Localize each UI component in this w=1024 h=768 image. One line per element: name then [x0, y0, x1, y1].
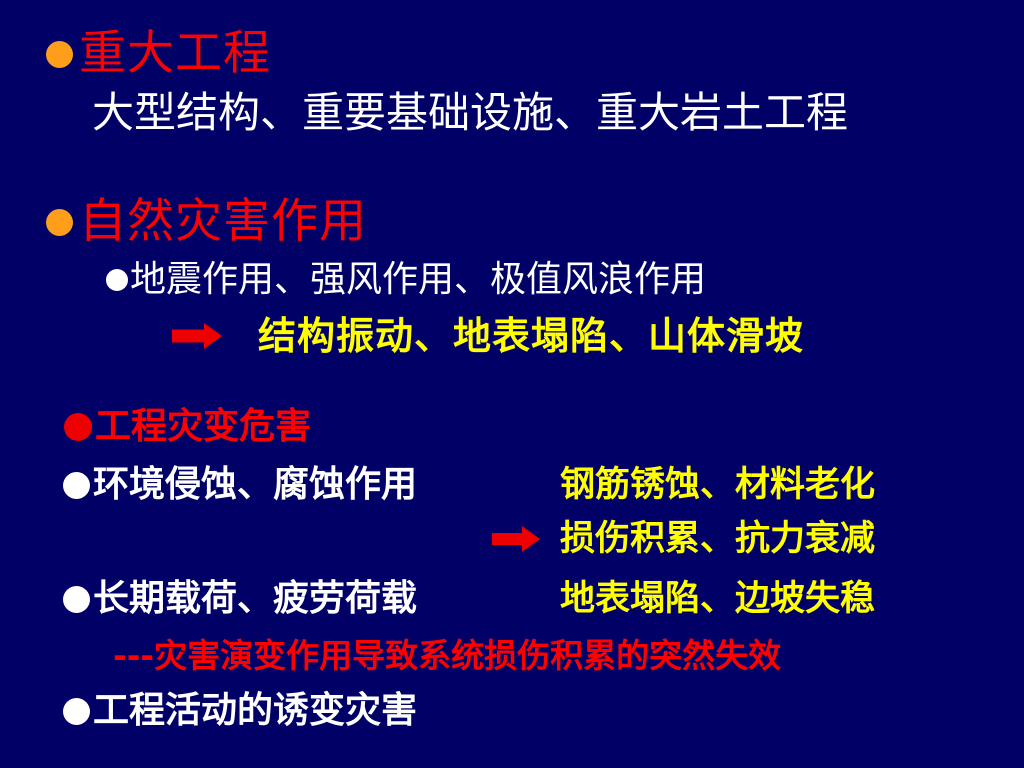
arrow-item-corrosion-result-line-2: 损伤积累、抗力衰减 — [492, 518, 875, 560]
text-longterm-load-result: 地表塌陷、边坡失稳 — [560, 578, 875, 620]
detail-major-projects: 大型结构、重要基础设施、重大岩土工程 — [92, 88, 848, 138]
text-conclusion: ---灾害演变作用导致系统损伤积累的突然失效 — [113, 636, 781, 676]
right-arrow-icon — [492, 527, 540, 551]
bullet-item-engineering-disaster: 工程灾变危害 — [64, 406, 311, 448]
text-hazard-effects: 结构振动、地表塌陷、山体滑坡 — [258, 313, 804, 359]
white-bullet-icon — [106, 269, 128, 291]
text-corrosion-result-2: 损伤积累、抗力衰减 — [560, 518, 875, 560]
slide-canvas: 重大工程 大型结构、重要基础设施、重大岩土工程 自然灾害作用 地震作用、强风作用… — [0, 0, 1024, 768]
orange-bullet-icon — [46, 209, 73, 236]
white-bullet-icon — [63, 586, 90, 613]
text-hazard-types: 地震作用、强风作用、极值风浪作用 — [130, 258, 706, 302]
item-conclusion: ---灾害演变作用导致系统损伤积累的突然失效 — [113, 636, 781, 676]
text-longterm-load-cause: 长期载荷、疲劳荷载 — [93, 578, 417, 620]
heading-engineering-disaster: 工程灾变危害 — [95, 406, 311, 448]
orange-bullet-icon — [46, 41, 73, 68]
bullet-item-hazard-types: 地震作用、强风作用、极值风浪作用 — [106, 258, 706, 302]
arrow-item-hazard-effects: 结构振动、地表塌陷、山体滑坡 — [172, 313, 804, 359]
text-major-projects-detail: 大型结构、重要基础设施、重大岩土工程 — [92, 88, 848, 138]
bullet-item-corrosion-cause: 环境侵蚀、腐蚀作用 — [63, 464, 417, 506]
heading-natural-hazards: 自然灾害作用 — [79, 196, 367, 248]
bullet-item-longterm-load-cause: 长期载荷、疲劳荷载 — [63, 578, 417, 620]
text-induced-disaster: 工程活动的诱变灾害 — [93, 690, 417, 732]
right-arrow-icon — [172, 323, 222, 349]
bullet-item-induced-disaster: 工程活动的诱变灾害 — [63, 690, 417, 732]
item-corrosion-result-line-1: 钢筋锈蚀、材料老化 — [560, 464, 875, 506]
item-longterm-load-result: 地表塌陷、边坡失稳 — [560, 578, 875, 620]
heading-major-projects: 重大工程 — [79, 28, 271, 80]
bullet-item-major-projects: 重大工程 — [46, 28, 271, 80]
bullet-item-natural-hazards: 自然灾害作用 — [46, 196, 367, 248]
red-bullet-icon — [64, 413, 92, 441]
text-corrosion-result-1: 钢筋锈蚀、材料老化 — [560, 464, 875, 506]
white-bullet-icon — [63, 472, 90, 499]
text-corrosion-cause: 环境侵蚀、腐蚀作用 — [93, 464, 417, 506]
white-bullet-icon — [63, 698, 90, 725]
